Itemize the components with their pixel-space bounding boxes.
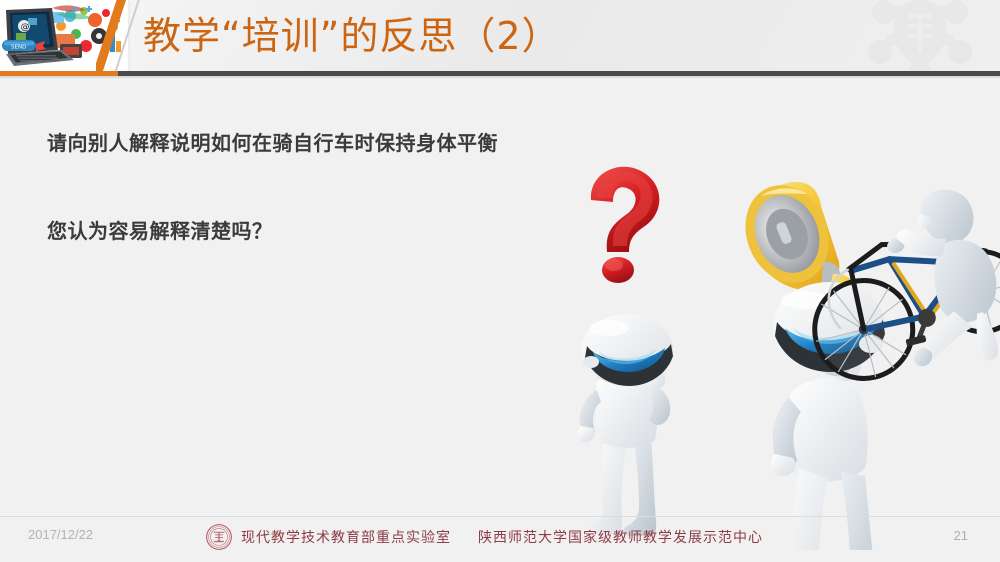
slide-header: @ SEND — [0, 0, 1000, 72]
presentation-slide: @ SEND — [0, 0, 1000, 562]
footer-organization: 现代教学技术教育部重点实验室 陕西师范大学国家级教师教学发展示范中心 — [206, 522, 763, 552]
page-title: 教学“培训”的反思（2） — [143, 11, 561, 61]
footer-org-primary: 现代教学技术教育部重点实验室 — [241, 527, 451, 547]
university-crest-watermark-icon — [860, 0, 980, 72]
laptop-multimedia-image: @ SEND — [0, 0, 128, 72]
send-button-label: SEND — [11, 45, 26, 51]
slide-footer: 2017/12/22 现代教学技术教育部重点实验室 陕西师范大学国家级教师教学发… — [0, 517, 1000, 562]
header-rule-shadow — [0, 76, 1000, 79]
footer-date: 2017/12/22 — [28, 527, 93, 542]
slide-artwork — [545, 150, 1000, 550]
university-seal-icon — [206, 524, 232, 550]
thinking-figure-with-helmet — [578, 167, 673, 536]
question-mark-icon — [591, 167, 659, 283]
footer-org-secondary: 陕西师范大学国家级教师教学发展示范中心 — [478, 527, 763, 547]
page-number: 21 — [954, 528, 968, 543]
